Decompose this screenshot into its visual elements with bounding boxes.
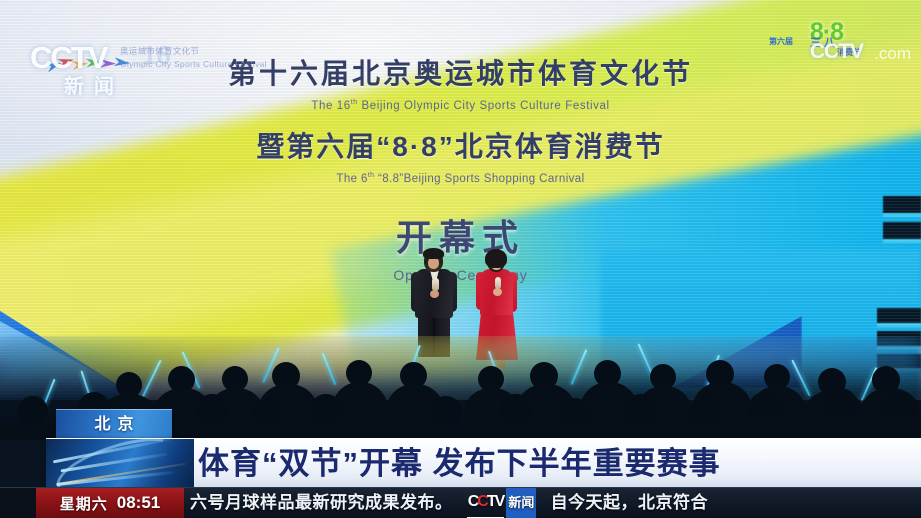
news-ticker: 星期六 08:51 六号月球样品最新研究成果发布。 CCTV 新闻 自今天起，北… bbox=[0, 487, 921, 518]
location-label: 北京 bbox=[56, 410, 172, 440]
ticker-news-badge: 新闻 bbox=[506, 488, 536, 518]
carnival-title-english-post: “8.8”Beijing Sports Shopping Carnival bbox=[374, 173, 584, 185]
festival-title-english-pre: The 16 bbox=[311, 100, 350, 112]
male-hair bbox=[423, 248, 444, 259]
ticker-cctv-wordmark: CCTV bbox=[467, 487, 505, 518]
ticker-text-second: 自今天起，北京符合 bbox=[551, 493, 709, 512]
ticker-cctv-news-logo: CCTV 新闻 bbox=[467, 487, 537, 518]
festival-logo-text: 奥运城市体育文化节 Olympic City Sports Culture Fe… bbox=[120, 45, 267, 71]
audience-person bbox=[292, 420, 366, 440]
headline-decoration-graphic bbox=[46, 439, 194, 489]
opening-ceremony-chinese: 开幕式 bbox=[0, 209, 921, 261]
ticker-text-first: 六号月球样品最新研究成果发布。 bbox=[190, 493, 453, 512]
festival-logo-text-en: Olympic City Sports Culture Festival bbox=[120, 58, 267, 71]
female-hand bbox=[493, 288, 502, 296]
carnival-title-english: The 6th “8.8”Beijing Sports Shopping Car… bbox=[0, 172, 921, 185]
audience-person bbox=[604, 420, 682, 440]
ticker-datetime: 星期六 08:51 bbox=[36, 488, 184, 518]
female-hair bbox=[485, 249, 507, 268]
tv-broadcast-screenshot: 第十六届北京奥运城市体育文化节 The 16th Beijing Olympic… bbox=[0, 0, 921, 518]
watermark-cctv-wordmark: CCTV bbox=[810, 40, 863, 64]
headline-text: 体育“双节”开幕 发布下半年重要赛事 bbox=[198, 439, 721, 489]
ticker-headline-text: 六号月球样品最新研究成果发布。 CCTV 新闻 自今天起，北京符合 bbox=[190, 488, 708, 518]
location-badge: 北京 bbox=[56, 409, 172, 440]
ticker-clock: 08:51 bbox=[117, 493, 160, 513]
ticker-weekday: 星期六 bbox=[60, 493, 108, 514]
ticker-left-cap bbox=[0, 488, 36, 518]
cctv-letters-tv: TV bbox=[487, 493, 503, 510]
festival-logo-text-cn: 奥运城市体育文化节 bbox=[120, 45, 267, 58]
opening-ceremony-english: Opening Ceremony bbox=[0, 267, 921, 283]
cctv-letter-c1: C bbox=[468, 493, 478, 510]
festival-title-english: The 16th Beijing Olympic City Sports Cul… bbox=[0, 99, 921, 112]
headline-bar: 体育“双节”开幕 发布下半年重要赛事 bbox=[46, 438, 921, 489]
audience-person bbox=[864, 418, 921, 440]
festival-title-english-post: Beijing Olympic City Sports Culture Fest… bbox=[358, 100, 610, 112]
audience-person bbox=[728, 418, 806, 440]
cctv-letter-c2-red: C bbox=[477, 493, 487, 510]
carnival-title-chinese: 暨第六届“8·8”北京体育消费节 bbox=[0, 125, 921, 165]
cctv-news-wordmark: 新闻 bbox=[64, 70, 124, 99]
ordinal-suffix: th bbox=[351, 99, 358, 106]
carnival-title-english-pre: The 6 bbox=[336, 173, 367, 185]
watermark-domain: .com bbox=[874, 44, 911, 64]
male-hand bbox=[430, 290, 439, 298]
watermark-label-left: 第六届 bbox=[769, 36, 793, 47]
